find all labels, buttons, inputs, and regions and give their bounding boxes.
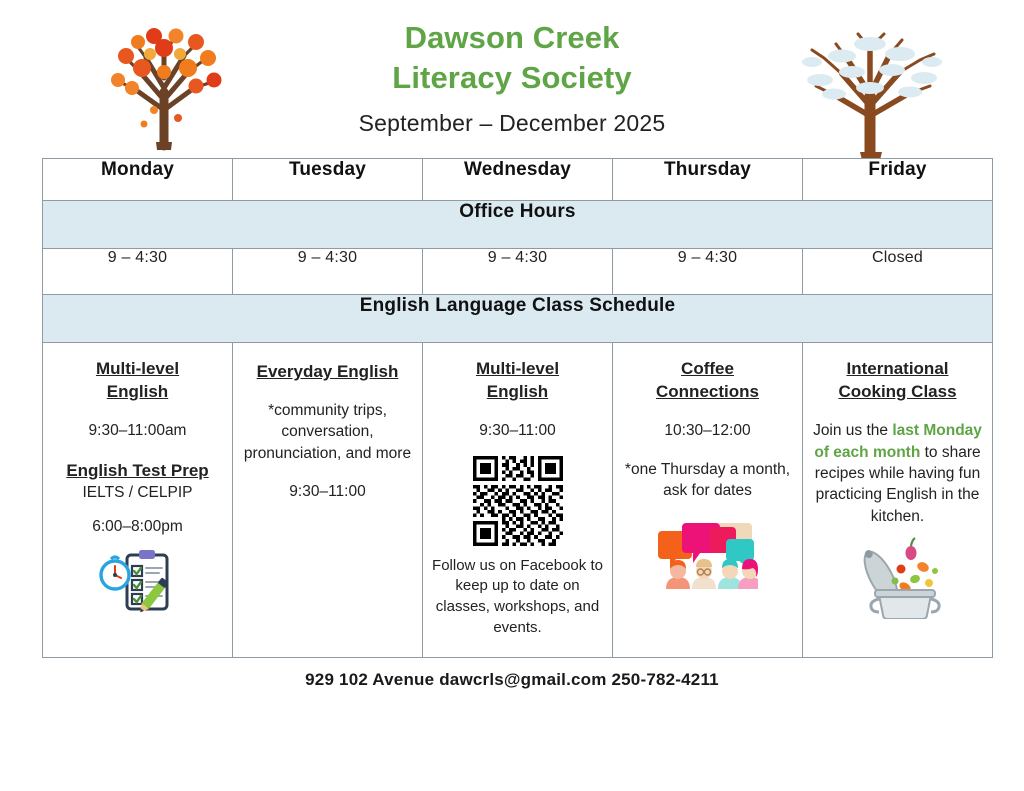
day-header-tuesday: Tuesday [233, 159, 423, 201]
friday-text-before: Join us the [813, 422, 892, 439]
monday-class-time-2: 6:00–8:00pm [52, 516, 223, 537]
wednesday-facebook-note: Follow us on Facebook to keep up to date… [432, 556, 603, 639]
table-row-office-hours-band: Office Hours [43, 201, 993, 249]
poster-title-line-1: Dawson Creek [262, 18, 762, 58]
monday-class-time-1: 9:30–11:00am [52, 420, 223, 441]
class-cell-friday: International Cooking Class Join us the … [803, 343, 993, 658]
wednesday-class-title-line-2: English [432, 380, 603, 403]
day-header-thursday: Thursday [613, 159, 803, 201]
thursday-class-time: 10:30–12:00 [622, 420, 793, 441]
monday-class-subtitle-2: IELTS / CELPIP [52, 482, 223, 503]
thursday-class-title-line-2: Connections [622, 380, 793, 403]
friday-class-description: Join us the last Monday of each month to… [812, 420, 983, 527]
tuesday-class-time: 9:30–11:00 [242, 481, 413, 502]
cooking-pot-vegetables-icon [851, 533, 945, 619]
poster-header: Dawson Creek Literacy Society September … [0, 0, 1024, 155]
class-cell-tuesday: Everyday English *community trips, conve… [233, 343, 423, 658]
table-row-office-hours: 9 – 4:30 9 – 4:30 9 – 4:30 9 – 4:30 Clos… [43, 249, 993, 295]
monday-class-title-line-2: English [52, 380, 223, 403]
schedule-table: Monday Tuesday Wednesday Thursday Friday… [42, 158, 993, 658]
monday-class-title-2: English Test Prep [52, 459, 223, 482]
tuesday-class-description: *community trips, conversation, pronunci… [242, 400, 413, 464]
friday-class-title-line-2: Cooking Class [812, 380, 983, 403]
class-cell-wednesday: Multi-level English 9:30–11:00 [423, 343, 613, 658]
qr-code[interactable] [473, 456, 563, 546]
poster-title-line-2: Literacy Society [262, 58, 762, 98]
class-schedule-band-label: English Language Class Schedule [43, 295, 993, 343]
monday-class-title-line-1: Multi-level [52, 357, 223, 380]
office-hours-friday: Closed [803, 249, 993, 295]
day-header-friday: Friday [803, 159, 993, 201]
office-hours-band-label: Office Hours [43, 201, 993, 249]
autumn-tree-icon [92, 14, 240, 154]
table-row-day-headers: Monday Tuesday Wednesday Thursday Friday [43, 159, 993, 201]
thursday-class-title-line-1: Coffee [622, 357, 793, 380]
poster-root: Dawson Creek Literacy Society September … [0, 0, 1024, 791]
office-hours-thursday: 9 – 4:30 [613, 249, 803, 295]
tuesday-class-title: Everyday English [242, 360, 413, 383]
thursday-class-note: *one Thursday a month, ask for dates [622, 459, 793, 502]
table-row-class-band: English Language Class Schedule [43, 295, 993, 343]
day-header-wednesday: Wednesday [423, 159, 613, 201]
schedule-table-wrapper: Monday Tuesday Wednesday Thursday Friday… [42, 158, 992, 658]
winter-tree-icon [790, 10, 950, 162]
office-hours-tuesday: 9 – 4:30 [233, 249, 423, 295]
class-cell-monday: Multi-level English 9:30–11:00am English… [43, 343, 233, 658]
partner-logos: BRITISH COLUMBIA Dawson Creek [0, 704, 1024, 784]
title-block: Dawson Creek Literacy Society September … [262, 18, 762, 137]
table-row-classes: Multi-level English 9:30–11:00am English… [43, 343, 993, 658]
office-hours-monday: 9 – 4:30 [43, 249, 233, 295]
day-header-monday: Monday [43, 159, 233, 201]
wednesday-class-time: 9:30–11:00 [432, 420, 603, 441]
contact-line: 929 102 Avenue dawcrls@gmail.com 250-782… [0, 670, 1024, 690]
class-cell-thursday: Coffee Connections 10:30–12:00 *one Thur… [613, 343, 803, 658]
wednesday-class-title-line-1: Multi-level [432, 357, 603, 380]
speech-bubbles-people-icon [658, 517, 758, 591]
clipboard-checklist-timer-icon [95, 547, 181, 617]
friday-class-title-line-1: International [812, 357, 983, 380]
poster-subtitle: September – December 2025 [262, 110, 762, 137]
office-hours-wednesday: 9 – 4:30 [423, 249, 613, 295]
